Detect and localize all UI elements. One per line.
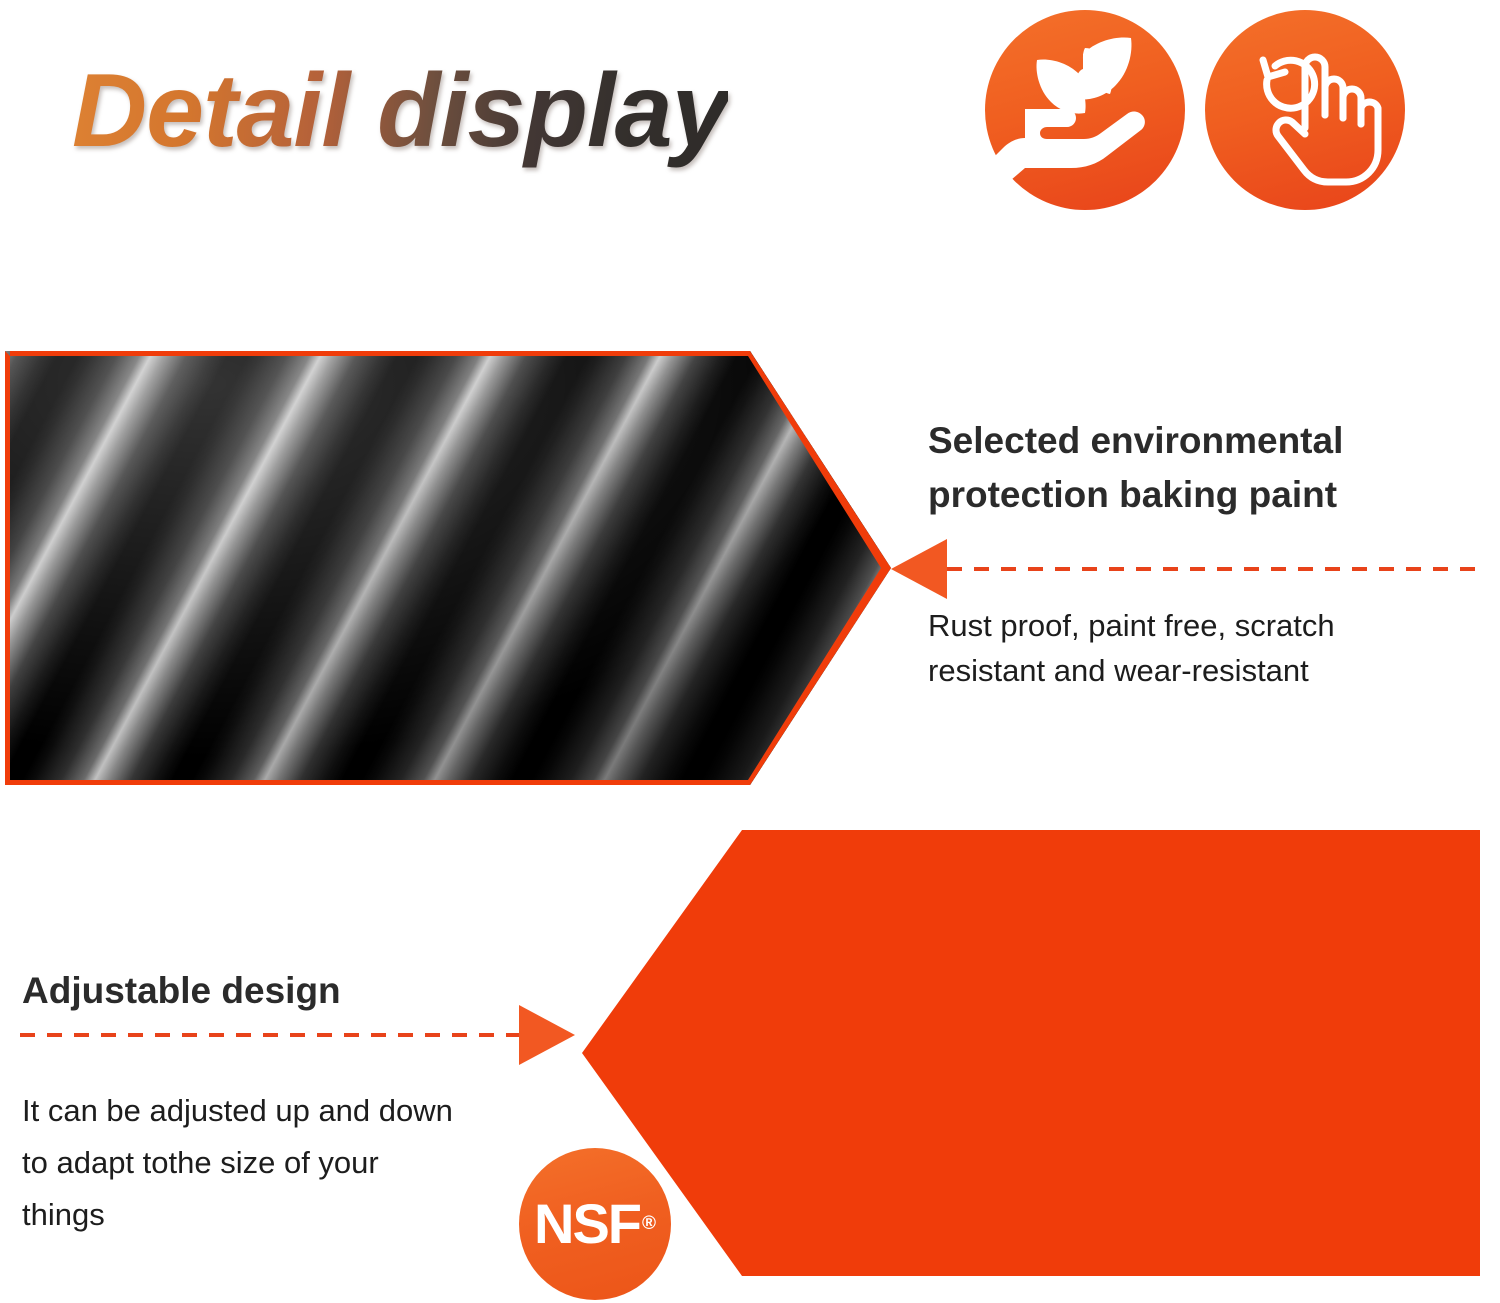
right-pointing-arrow-icon — [519, 1005, 575, 1065]
registered-trademark-icon: ® — [642, 1213, 656, 1235]
adjustable-design-photo-panel: NSF XiaongMou MADE IN CHINA — [582, 830, 1480, 1276]
baking-paint-body: Rust proof, paint free, scratch resistan… — [928, 604, 1458, 694]
nsf-certification-badge: NSF ® — [519, 1148, 671, 1300]
adjustable-design-heading: Adjustable design — [22, 970, 341, 1012]
shelf-bar — [797, 1174, 1477, 1204]
page-title: Detail display — [72, 54, 728, 168]
header: Detail display — [0, 0, 1500, 240]
left-pointing-arrow-icon — [891, 539, 947, 599]
hub-nsf-emboss-text: NSF — [994, 975, 1059, 1014]
adjustable-design-photo: NSF XiaongMou MADE IN CHINA — [582, 830, 1480, 1276]
shelf-hub-scene: NSF XiaongMou MADE IN CHINA — [582, 830, 1480, 1276]
baking-paint-photo — [5, 351, 891, 785]
callout-dashed-line — [20, 1033, 520, 1037]
nsf-badge-text: NSF — [534, 1196, 640, 1252]
callout-dashed-line — [947, 567, 1487, 571]
adjustable-design-body: It can be adjusted up and down to adapt … — [22, 1085, 462, 1241]
hub-nsf-emboss-icon: NSF — [974, 942, 1078, 1046]
eco-friendly-icon — [985, 10, 1185, 210]
baking-paint-photo-panel — [5, 351, 891, 785]
hub-brand-emboss: XiaongMou — [950, 1086, 1110, 1110]
baking-paint-heading: Selected environmental protection baking… — [928, 414, 1488, 521]
hub-base — [938, 1216, 1112, 1262]
adjustable-touch-icon — [1205, 10, 1405, 210]
black-wire-rods-texture — [5, 351, 891, 785]
shelf-bar — [777, 1058, 1467, 1116]
hub-origin-emboss: MADE IN CHINA — [950, 1126, 1110, 1150]
